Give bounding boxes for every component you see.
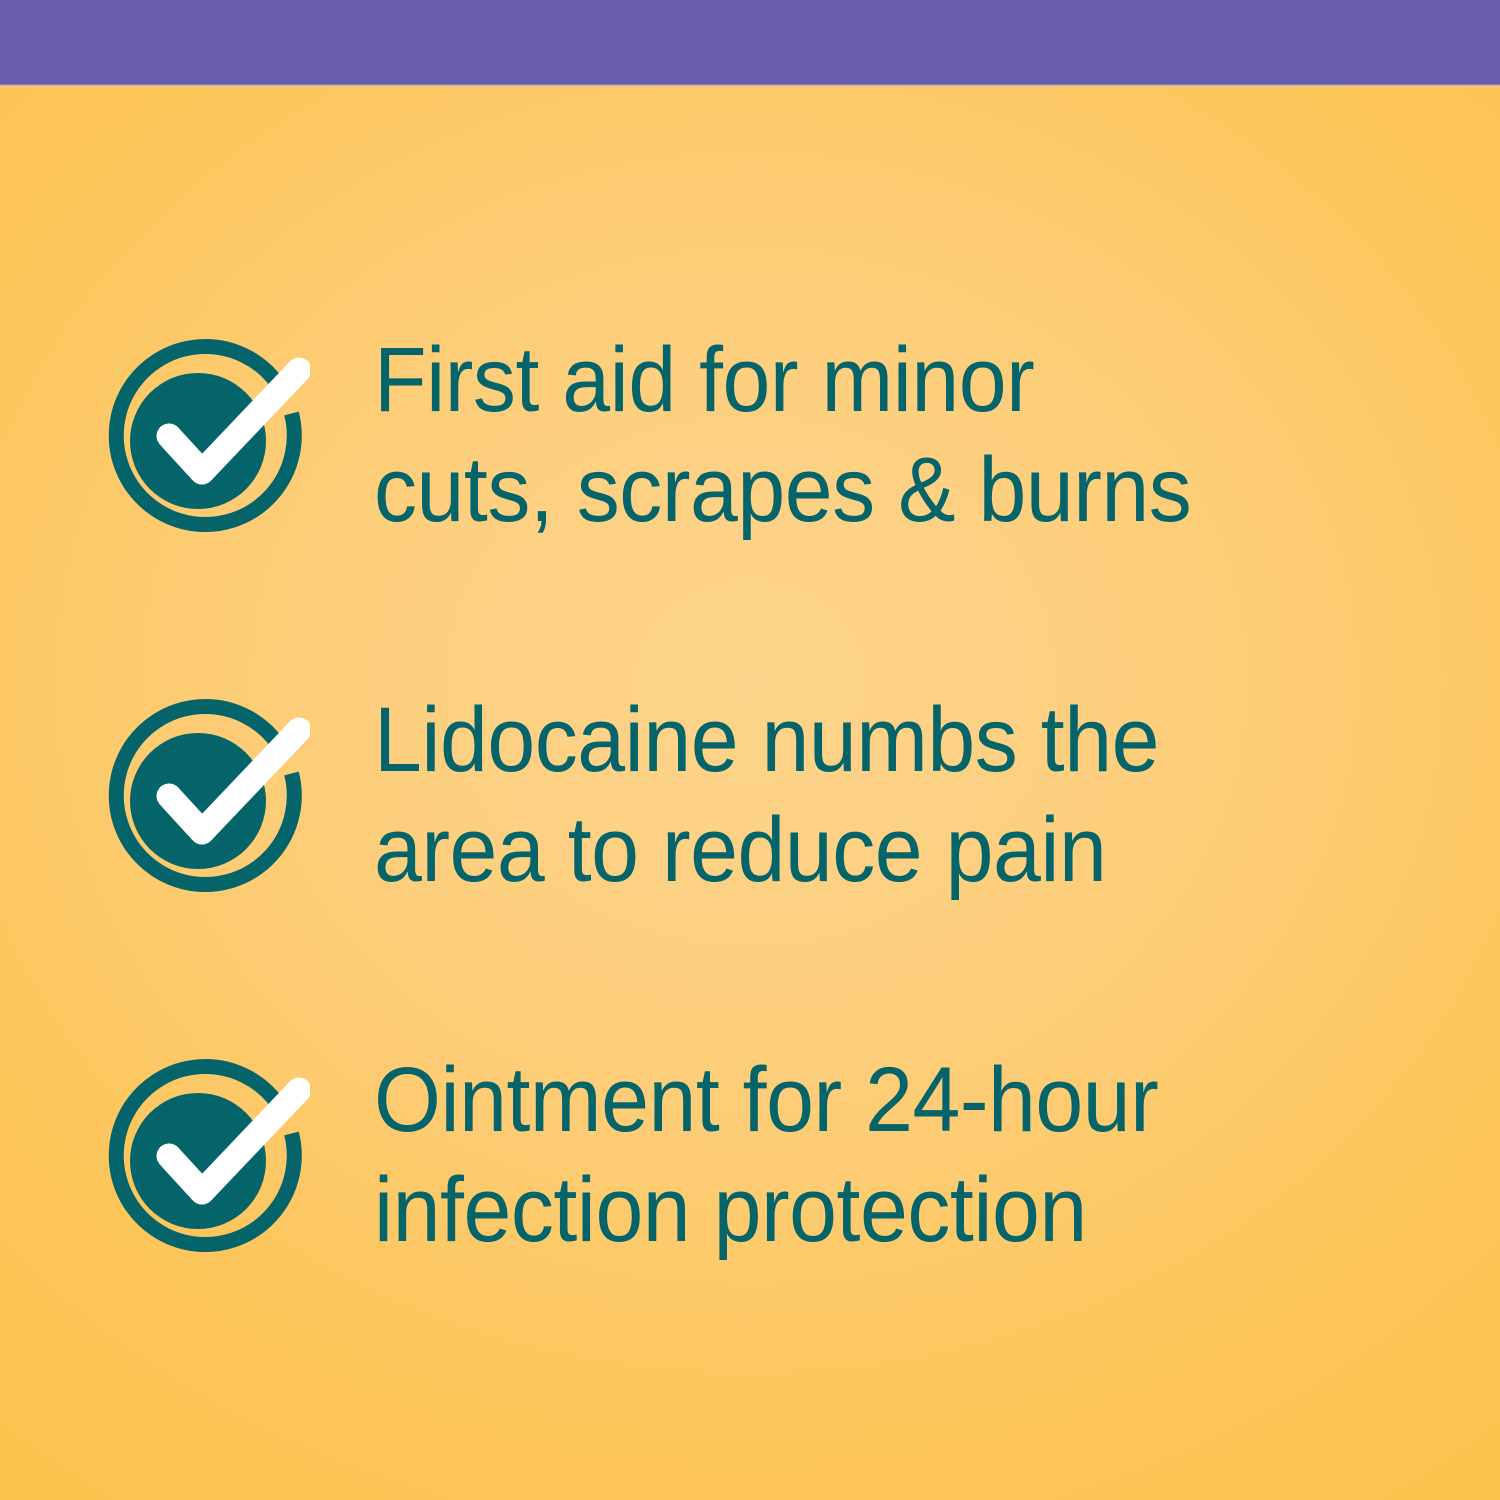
benefit-text: Ointment for 24-hour infection protectio… <box>374 1045 1393 1265</box>
benefit-item: First aid for minor cuts, scrapes & burn… <box>0 333 1500 563</box>
feature-callout-page: First aid for minor cuts, scrapes & burn… <box>0 0 1500 1500</box>
benefits-list: First aid for minor cuts, scrapes & burn… <box>0 88 1500 1500</box>
benefit-item: Ointment for 24-hour infection protectio… <box>0 1053 1500 1283</box>
benefit-text: First aid for minor cuts, scrapes & burn… <box>374 325 1393 545</box>
top-band-edge <box>0 84 1500 88</box>
check-circle-icon <box>98 1053 310 1265</box>
check-circle-icon <box>98 333 310 545</box>
benefit-text: Lidocaine numbs the area to reduce pain <box>374 685 1393 905</box>
top-purple-band <box>0 0 1500 84</box>
check-circle-icon <box>98 693 310 905</box>
benefit-item: Lidocaine numbs the area to reduce pain <box>0 693 1500 923</box>
